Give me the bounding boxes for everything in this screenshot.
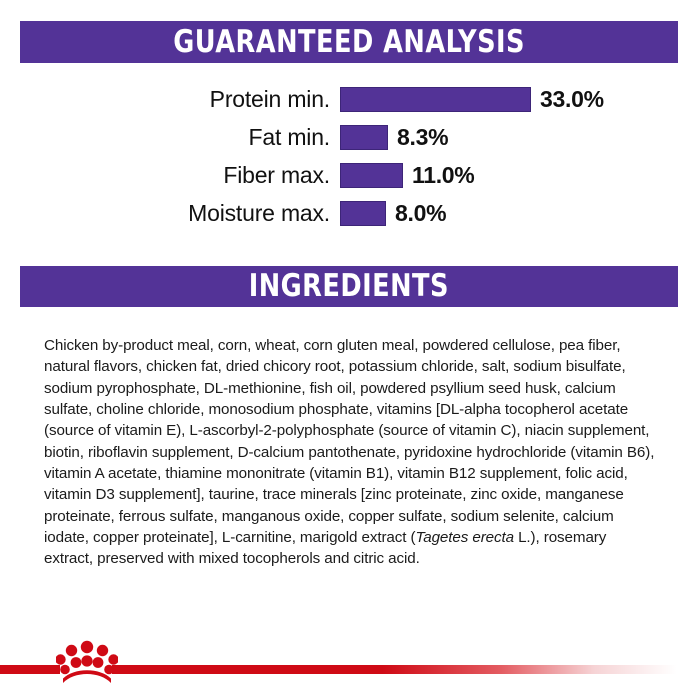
chart-row-label: Protein min. bbox=[0, 86, 340, 113]
chart-row: Protein min.33.0% bbox=[0, 80, 700, 118]
guaranteed-analysis-title: GUARANTEED ANALYSIS bbox=[173, 27, 525, 58]
chart-row-label: Moisture max. bbox=[0, 200, 340, 227]
chart-bar bbox=[340, 163, 403, 188]
chart-row-bar-wrap: 8.0% bbox=[340, 200, 446, 227]
chart-row: Fat min.8.3% bbox=[0, 118, 700, 156]
chart-row-label: Fiber max. bbox=[0, 162, 340, 189]
chart-bar bbox=[340, 125, 388, 150]
footer-rule-right bbox=[112, 665, 700, 674]
footer-rule-left bbox=[0, 665, 60, 674]
scientific-name: Tagetes erecta bbox=[415, 529, 514, 546]
guaranteed-analysis-header: GUARANTEED ANALYSIS bbox=[20, 21, 678, 63]
chart-row: Moisture max.8.0% bbox=[0, 194, 700, 232]
chart-bar bbox=[340, 201, 386, 226]
chart-value-label: 8.3% bbox=[397, 124, 448, 151]
chart-value-label: 33.0% bbox=[540, 86, 604, 113]
guaranteed-analysis-chart: Protein min.33.0%Fat min.8.3%Fiber max.1… bbox=[0, 80, 700, 232]
chart-row-bar-wrap: 8.3% bbox=[340, 124, 448, 151]
ingredients-title: INGREDIENTS bbox=[249, 271, 449, 302]
chart-row: Fiber max.11.0% bbox=[0, 156, 700, 194]
ingredients-header: INGREDIENTS bbox=[20, 266, 678, 307]
chart-row-bar-wrap: 33.0% bbox=[340, 86, 604, 113]
chart-bar bbox=[340, 87, 531, 112]
chart-row-label: Fat min. bbox=[0, 124, 340, 151]
nutrition-panel: GUARANTEED ANALYSIS Protein min.33.0%Fat… bbox=[0, 0, 700, 700]
ingredients-text: Chicken by-product meal, corn, wheat, co… bbox=[44, 335, 658, 569]
chart-value-label: 11.0% bbox=[412, 162, 474, 189]
chart-row-bar-wrap: 11.0% bbox=[340, 162, 474, 189]
chart-value-label: 8.0% bbox=[395, 200, 446, 227]
royal-canin-crown-icon bbox=[56, 638, 118, 686]
footer-brand bbox=[0, 620, 700, 700]
